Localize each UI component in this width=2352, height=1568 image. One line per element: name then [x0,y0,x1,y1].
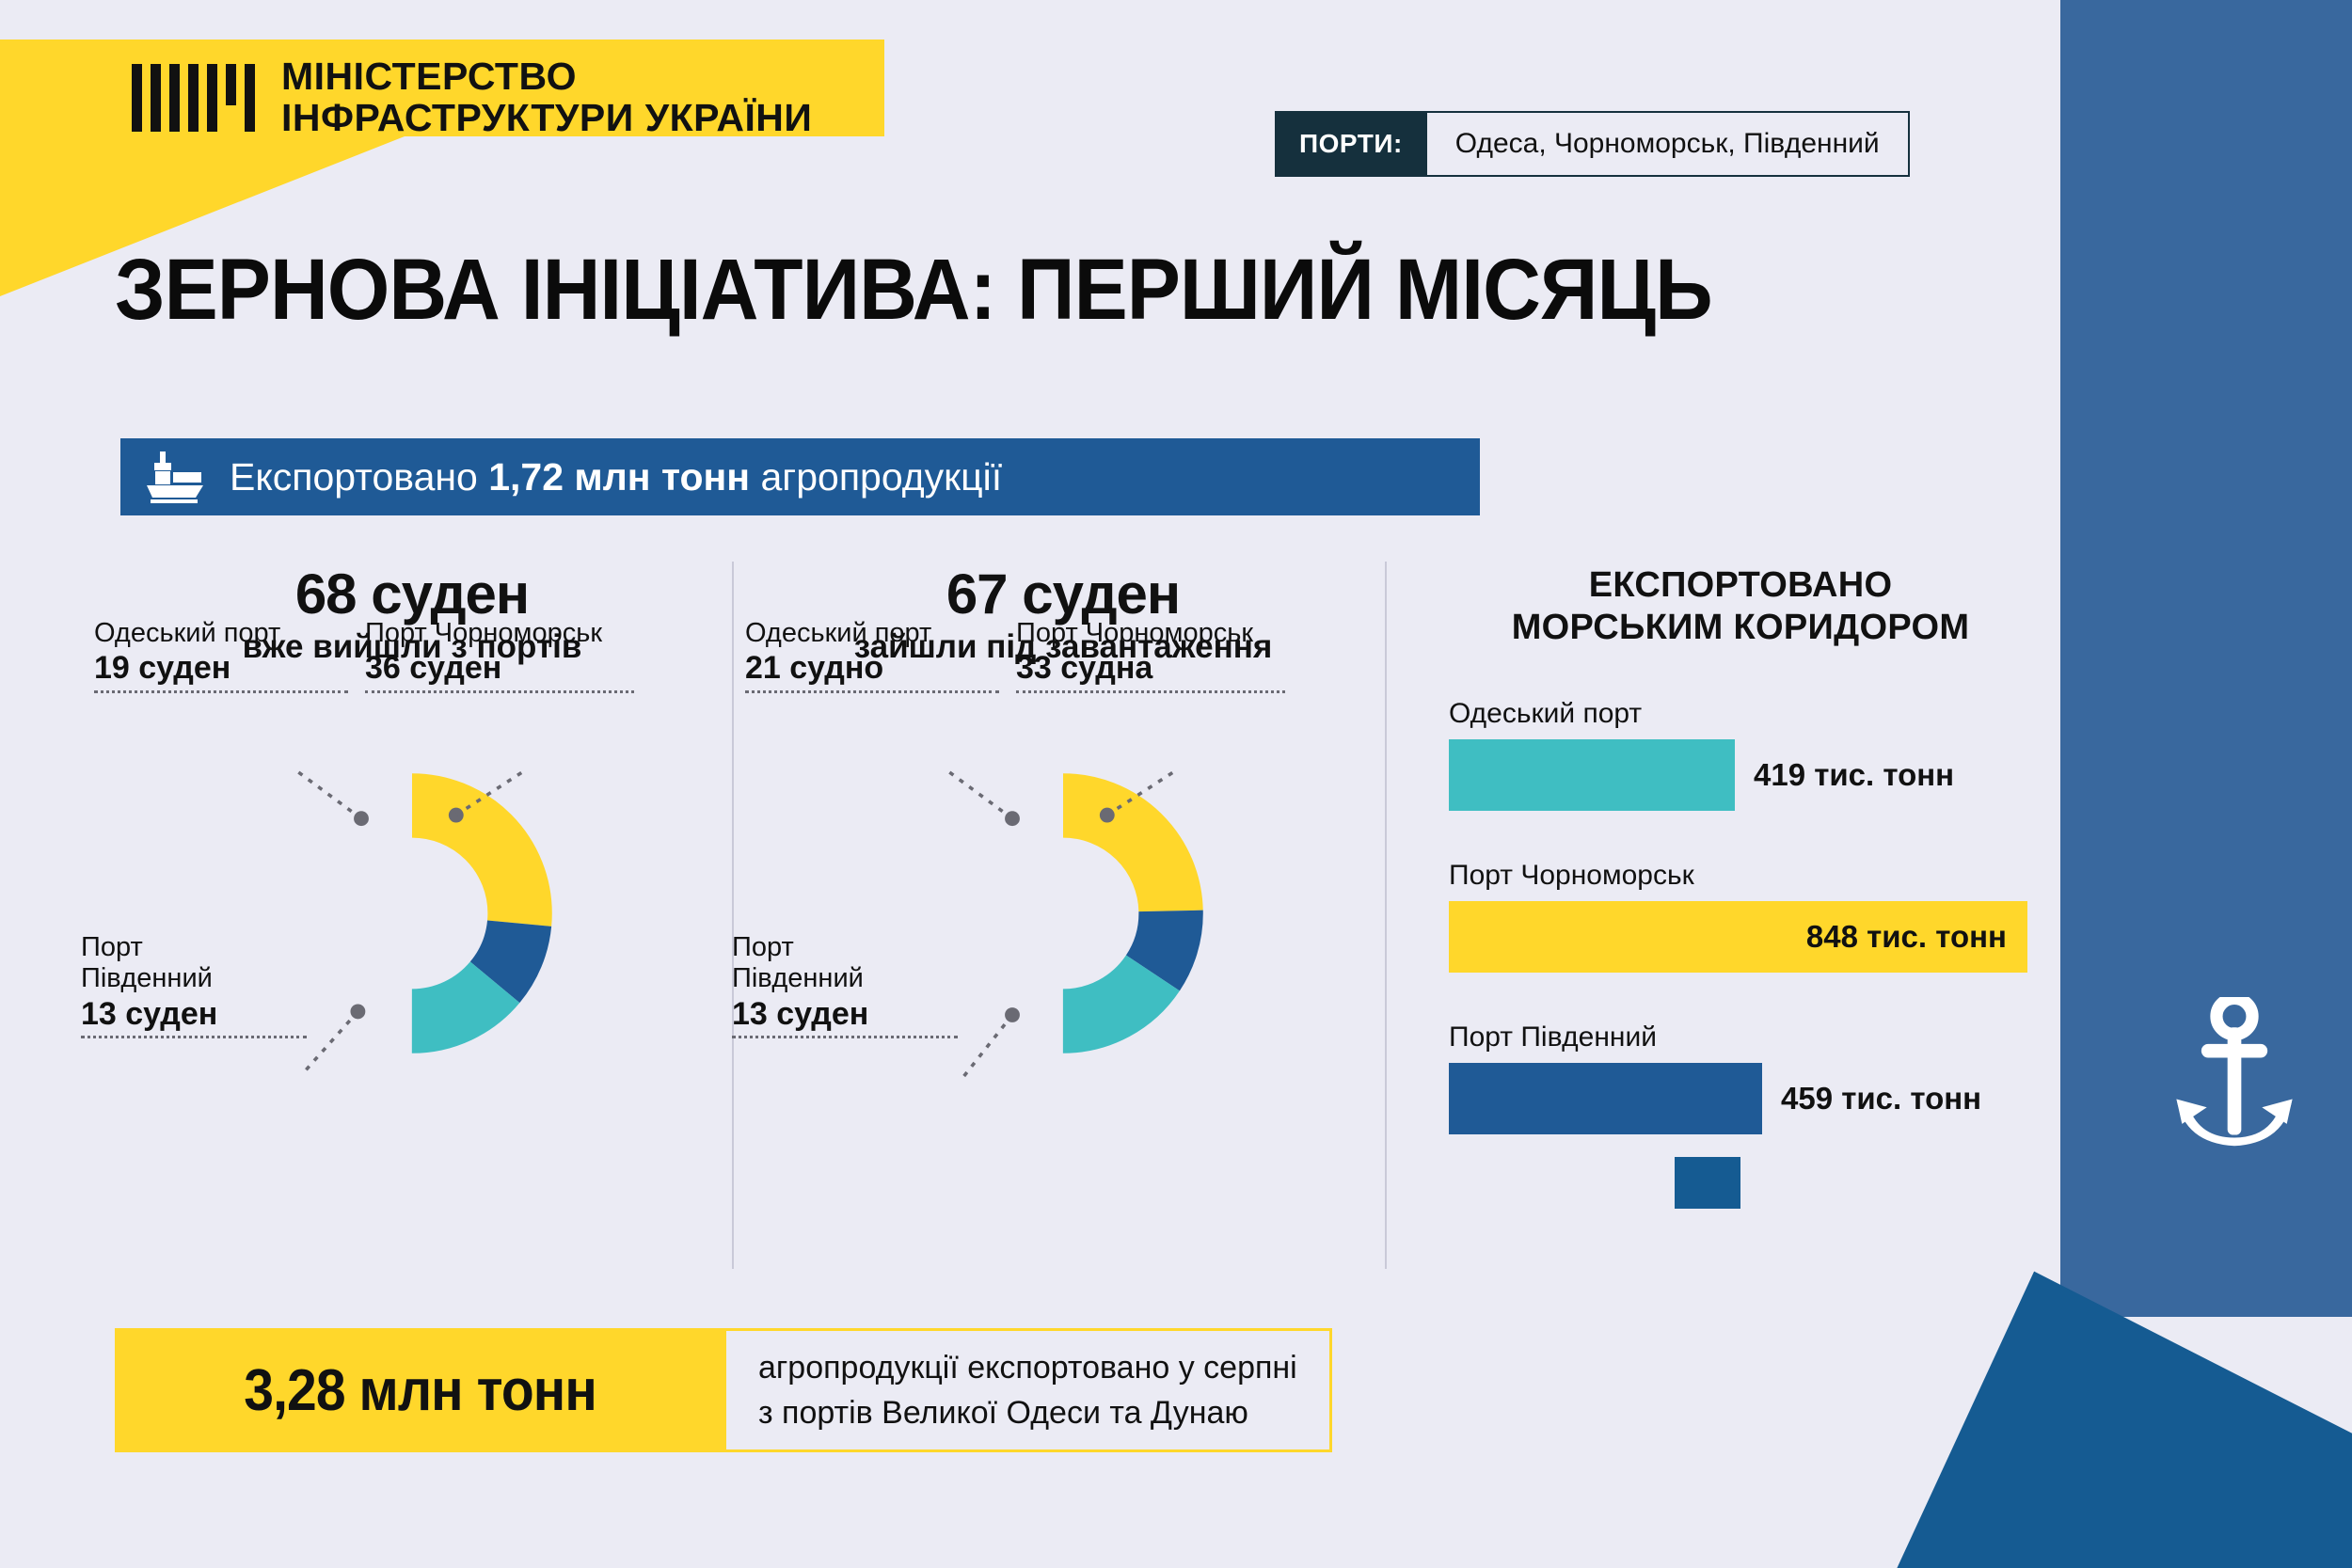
donut-2-label-odesa: Одеський порт 21 судно [745,618,999,693]
export-banner-text: Експортовано 1,72 млн тонн агропродукції [230,455,1002,499]
donut-chart-departed: 68 суден вже вийшли з портів Одеський по… [102,564,723,1196]
donut-1-label-odesa-name: Одеський порт [94,618,348,649]
export-amount: 1,72 млн тонн [488,455,750,499]
donut-2-slice-odesa [955,805,1170,1021]
donut-1-slice-odesa [304,805,519,1021]
bottom-desc-line2: з портів Великої Одеси та Дунаю [758,1390,1297,1435]
donut-1-label-odesa: Одеський порт 19 суден [94,618,348,693]
ministry-logo-text: Міністерство інфраструктури України [281,56,812,139]
bottom-desc-line1: агропродукції експортовано у серпні [758,1345,1297,1390]
donut-1-leader-odesa [297,771,361,818]
donut-2-label-pivdennyi-value: 13 суден [732,995,958,1034]
bottom-amount: 3,28 млн тонн [115,1328,726,1452]
bar-label-odesa: Одеський порт [1449,698,2032,730]
bar-label-pivdennyi: Порт Південний [1449,1022,2032,1053]
bar-group-odesa: Одеський порт 419 тис. тонн [1449,698,2032,811]
bars-title-line1: ЕКСПОРТОВАНО [1449,564,2032,607]
donut-2-label-chornomorsk-name: Порт Чорноморськ [1016,618,1285,649]
donut-1-dot-odesa [354,811,369,826]
donut-2-big: 67 суден [753,564,1374,624]
donut-2-leader-odesa [948,771,1012,818]
ministry-logo-line1: Міністерство [281,56,812,98]
donut-2-label-pivdennyi: Порт Південний 13 суден [732,932,958,1038]
ministry-logo-line2: інфраструктури України [281,98,812,139]
donut-2-leader-pivdennyi [961,1015,1012,1079]
column-divider [1385,562,1387,1269]
bar-group-chornomorsk: Порт Чорноморськ 848 тис. тонн [1449,860,2032,973]
donut-1-label-chornomorsk-rule [365,690,634,693]
bottom-blue-accent [1675,1157,1740,1209]
donut-1-leader-pivdennyi [304,1011,358,1072]
bars-title-line2: МОРСЬКИМ КОРИДОРОМ [1449,607,2032,649]
ports-value: Одеса, Чорноморськ, Південний [1427,111,1910,177]
bar-pivdennyi [1449,1063,1762,1134]
bottom-amount-text: 3,28 млн тонн [245,1357,597,1424]
donut-2-label-chornomorsk-rule [1016,690,1285,693]
bar-odesa [1449,739,1735,811]
donut-1-label-chornomorsk-name: Порт Чорноморськ [365,618,634,649]
ship-icon [145,450,205,504]
bar-row-pivdennyi: 459 тис. тонн [1449,1063,2032,1134]
donut-2-label-pivdennyi-name: Порт Південний [732,932,958,995]
column-divider [732,562,734,1269]
export-prefix: Експортовано [230,455,488,499]
donut-1-label-chornomorsk-value: 36 суден [365,649,634,688]
bar-row-chornomorsk: 848 тис. тонн [1449,901,2032,973]
bar-chornomorsk: 848 тис. тонн [1449,901,2027,973]
donut-2-label-chornomorsk-value: 33 судна [1016,649,1285,688]
donut-2-label-pivdennyi-rule [732,1036,958,1038]
donut-2-label-chornomorsk: Порт Чорноморськ 33 судна [1016,618,1285,693]
donut-2-label-odesa-value: 21 судно [745,649,999,688]
sea-corridor-bar-chart: ЕКСПОРТОВАНО МОРСЬКИМ КОРИДОРОМ Одеський… [1449,564,2032,1134]
bar-value-odesa: 419 тис. тонн [1754,757,1954,793]
donut-1-label-pivdennyi-rule [81,1036,307,1038]
donut-chart-loading: 67 суден зайшли під завантаження Одеськи… [753,564,1374,1196]
bar-group-pivdennyi: Порт Південний 459 тис. тонн [1449,1022,2032,1134]
donut-1-label-odesa-rule [94,690,348,693]
donut-1-label-chornomorsk: Порт Чорноморськ 36 суден [365,618,634,693]
bottom-summary-banner: 3,28 млн тонн агропродукції експортовано… [115,1328,1332,1452]
donut-2-label-odesa-rule [745,690,999,693]
export-summary-banner: Експортовано 1,72 млн тонн агропродукції [120,438,1480,515]
donut-2-wrap: Одеський порт 21 судно Порт Чорноморськ … [753,725,1374,1196]
bottom-right-diagonal [1769,1204,2352,1568]
donut-1-label-pivdennyi-value: 13 суден [81,995,307,1034]
donut-1-label-pivdennyi-name: Порт Південний [81,932,307,995]
donut-1-label-odesa-value: 19 суден [94,649,348,688]
bar-value-pivdennyi: 459 тис. тонн [1781,1081,1981,1117]
ministry-bars-logo-icon [132,64,255,132]
donut-1-wrap: Одеський порт 19 суден Порт Чорноморськ … [102,725,723,1196]
donut-1-big: 68 суден [102,564,723,624]
page-title: ЗЕРНОВА ІНІЦІАТИВА: ПЕРШИЙ МІСЯЦЬ [115,246,1712,333]
ministry-logo: Міністерство інфраструктури України [132,56,812,139]
export-suffix: агропродукції [750,455,1002,499]
bottom-description: агропродукції експортовано у серпні з по… [726,1328,1332,1452]
ports-box: ПОРТИ: Одеса, Чорноморськ, Південний [1275,111,1910,177]
bar-value-chornomorsk: 848 тис. тонн [1806,919,2007,955]
ports-label: ПОРТИ: [1275,111,1427,177]
anchor-icon [2164,997,2305,1157]
donut-1-label-pivdennyi: Порт Південний 13 суден [81,932,307,1038]
bar-label-chornomorsk: Порт Чорноморськ [1449,860,2032,892]
donut-2-label-odesa-name: Одеський порт [745,618,999,649]
bars-title: ЕКСПОРТОВАНО МОРСЬКИМ КОРИДОРОМ [1449,564,2032,649]
bar-row-odesa: 419 тис. тонн [1449,739,2032,811]
donut-2-dot-odesa [1005,811,1020,826]
